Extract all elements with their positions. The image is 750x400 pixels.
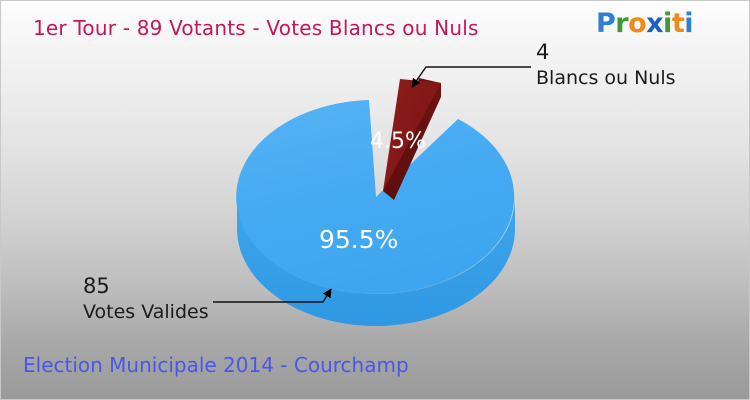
chart-subtitle: Election Municipale 2014 - Courchamp [23, 353, 409, 377]
pie-slice-votes-valides[interactable] [236, 100, 514, 294]
chart-card: 1er Tour - 89 Votants - Votes Blancs ou … [0, 0, 750, 400]
callout-blancs-ou-nuls: 4 Blancs ou Nuls [536, 39, 676, 91]
callout-valides-value: 85 [83, 273, 209, 299]
callout-blancs-value: 4 [536, 39, 676, 65]
callout-blancs-label: Blancs ou Nuls [536, 65, 676, 91]
callout-votes-valides: 85 Votes Valides [83, 273, 209, 325]
callout-valides-label: Votes Valides [83, 299, 209, 325]
